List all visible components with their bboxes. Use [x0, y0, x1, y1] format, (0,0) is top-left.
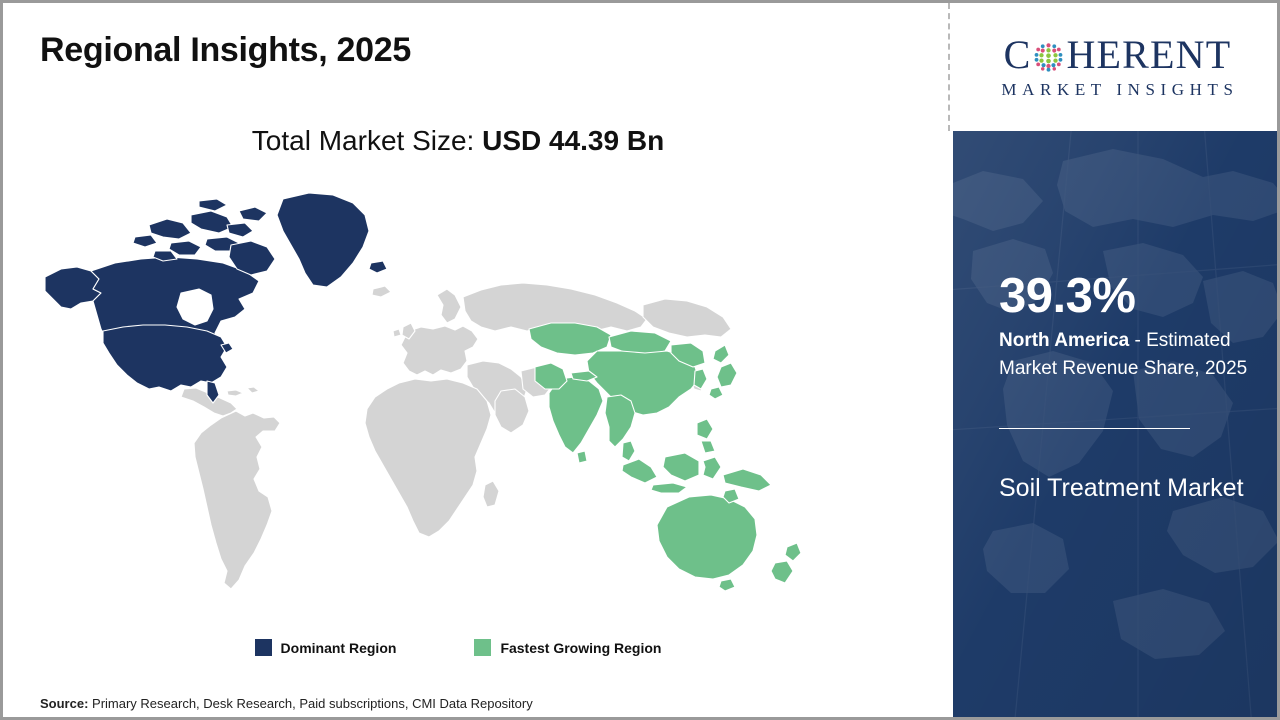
total-market-size-label: Total Market Size:	[252, 125, 482, 156]
market-share-percentage: 39.3%	[999, 272, 1135, 321]
map-region-dominant-north-america	[45, 193, 387, 403]
source-label: Source:	[40, 696, 88, 711]
market-name: Soil Treatment Market	[999, 471, 1249, 505]
legend-item-dominant: Dominant Region	[255, 639, 397, 656]
legend-item-fastest-growing: Fastest Growing Region	[474, 639, 661, 656]
page-title: Regional Insights, 2025	[40, 31, 411, 70]
legend-label-dominant: Dominant Region	[281, 640, 397, 656]
total-market-size-value: USD 44.39 Bn	[482, 125, 664, 156]
sidebar-panel: 39.3% North America - Estimated Market R…	[953, 131, 1280, 720]
source-note: Source: Primary Research, Desk Research,…	[40, 696, 533, 711]
market-share-caption: North America - Estimated Market Revenue…	[999, 327, 1265, 382]
dotted-globe-icon	[1032, 40, 1065, 73]
world-map	[31, 185, 831, 615]
regional-insights-infographic: Regional Insights, 2025 Total Market Siz…	[0, 0, 1280, 720]
green-square-swatch-icon	[474, 639, 491, 656]
sidebar-horizontal-rule	[999, 428, 1190, 429]
map-legend: Dominant Region Fastest Growing Region	[3, 639, 913, 656]
map-region-other	[181, 283, 731, 589]
logo-wordmark: C	[1004, 35, 1232, 75]
logo-tagline: MARKET INSIGHTS	[996, 80, 1238, 100]
sidebar-content: 39.3% North America - Estimated Market R…	[999, 131, 1267, 720]
vertical-dashed-divider	[948, 3, 950, 131]
legend-label-fastest-growing: Fastest Growing Region	[500, 640, 661, 656]
map-region-fastest-growing-asia-pacific	[529, 323, 801, 591]
logo-letters-herent: HERENT	[1066, 35, 1231, 75]
source-text: Primary Research, Desk Research, Paid su…	[88, 696, 532, 711]
region-name: North America	[999, 330, 1129, 351]
company-logo: C	[958, 3, 1277, 131]
total-market-size: Total Market Size: USD 44.39 Bn	[3, 125, 913, 157]
logo-letter-c: C	[1004, 35, 1032, 75]
main-content-panel: Regional Insights, 2025 Total Market Siz…	[3, 3, 948, 717]
navy-square-swatch-icon	[255, 639, 272, 656]
